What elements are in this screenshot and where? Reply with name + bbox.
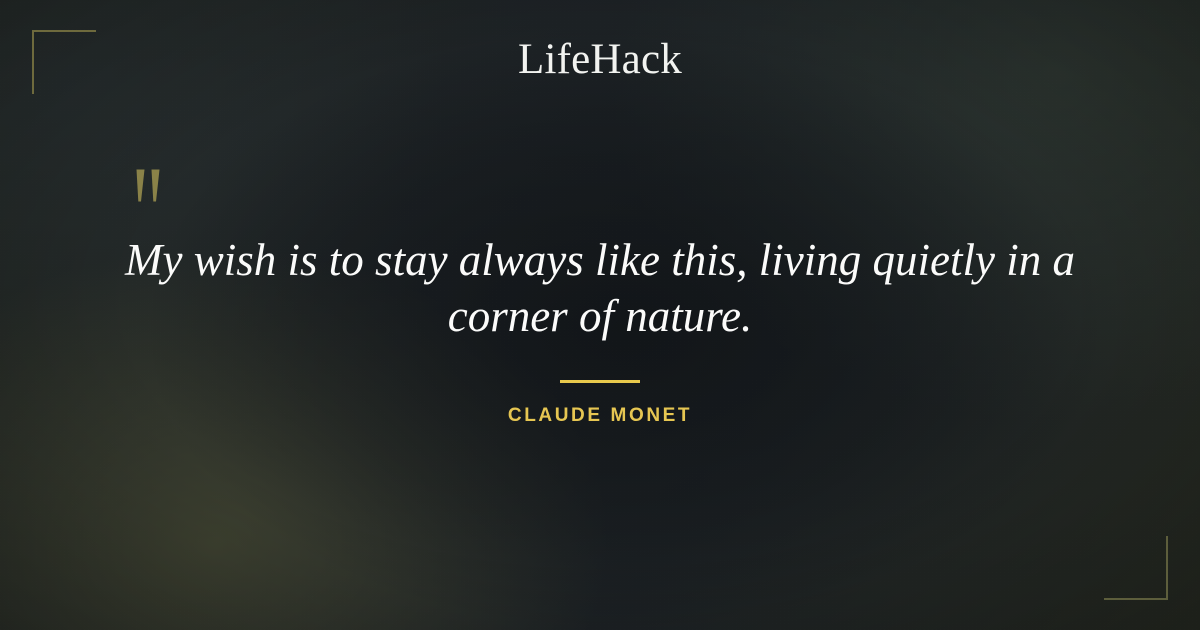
brand-logo: LifeHack [0, 38, 1200, 81]
corner-bracket-bottom-right-icon [1104, 536, 1168, 600]
gold-divider [560, 380, 640, 383]
quote-author: CLAUDE MONET [0, 405, 1200, 427]
double-quote-icon [130, 168, 170, 212]
quote-text: My wish is to stay always like this, liv… [0, 168, 1200, 344]
quote-block: My wish is to stay always like this, liv… [0, 168, 1200, 427]
quote-card: LifeHack My wish is to stay always like … [0, 0, 1200, 630]
